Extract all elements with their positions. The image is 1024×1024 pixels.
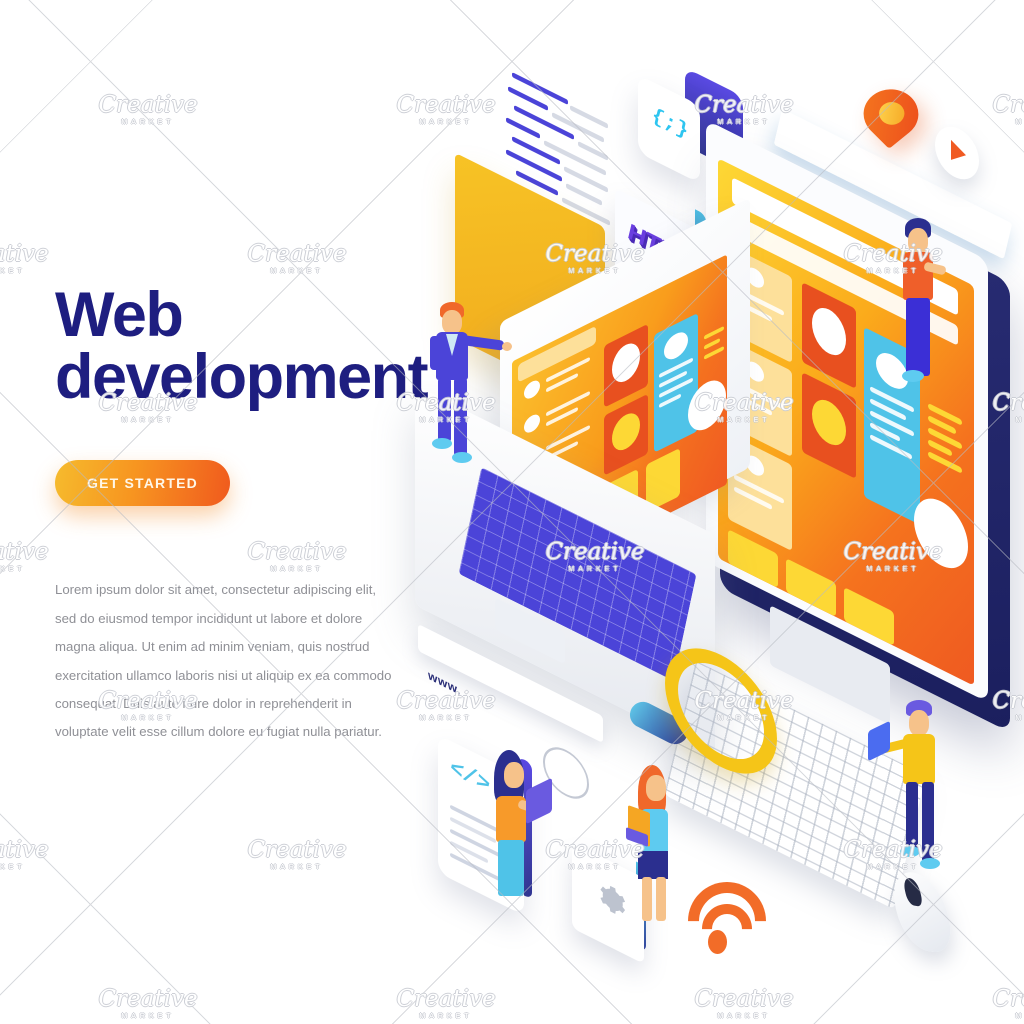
watermark-text: CreativeMARKET bbox=[98, 986, 197, 1020]
watermark-text: CreativeMARKET bbox=[247, 241, 346, 275]
wifi-dot-icon bbox=[708, 930, 727, 954]
page-title-line-2: development bbox=[55, 347, 415, 409]
illustration-canvas: Web development GET STARTED Lorem ipsum … bbox=[0, 0, 1024, 1024]
play-button-icon[interactable] bbox=[935, 120, 979, 186]
page-title-line-1: Web bbox=[55, 285, 415, 347]
url-search-text: www. bbox=[428, 668, 461, 698]
watermark-text: CreativeMARKET bbox=[247, 837, 346, 871]
watermark-text: CreativeMARKET bbox=[694, 986, 793, 1020]
location-pin-icon bbox=[852, 79, 929, 149]
watermark-text: CreativeMARKET bbox=[0, 241, 49, 275]
play-triangle-icon bbox=[951, 140, 966, 165]
isometric-illustration: {;} HTML5 bbox=[400, 60, 1024, 960]
mouse[interactable] bbox=[887, 868, 957, 955]
get-started-button[interactable]: GET STARTED bbox=[55, 460, 230, 506]
location-pin-center bbox=[874, 97, 910, 129]
hero-paragraph: Lorem ipsum dolor sit amet, consectetur … bbox=[55, 576, 395, 746]
mouse-scroll-wheel bbox=[902, 877, 924, 907]
watermark-text: CreativeMARKET bbox=[396, 986, 495, 1020]
watermark-text: CreativeMARKET bbox=[0, 539, 49, 573]
hero-text-column: Web development GET STARTED Lorem ipsum … bbox=[55, 285, 415, 760]
wifi-icon bbox=[688, 882, 754, 954]
watermark-text: CreativeMARKET bbox=[0, 837, 49, 871]
watermark-text: CreativeMARKET bbox=[992, 986, 1024, 1020]
watermark-text: CreativeMARKET bbox=[98, 92, 197, 126]
page-title: Web development bbox=[55, 285, 415, 408]
